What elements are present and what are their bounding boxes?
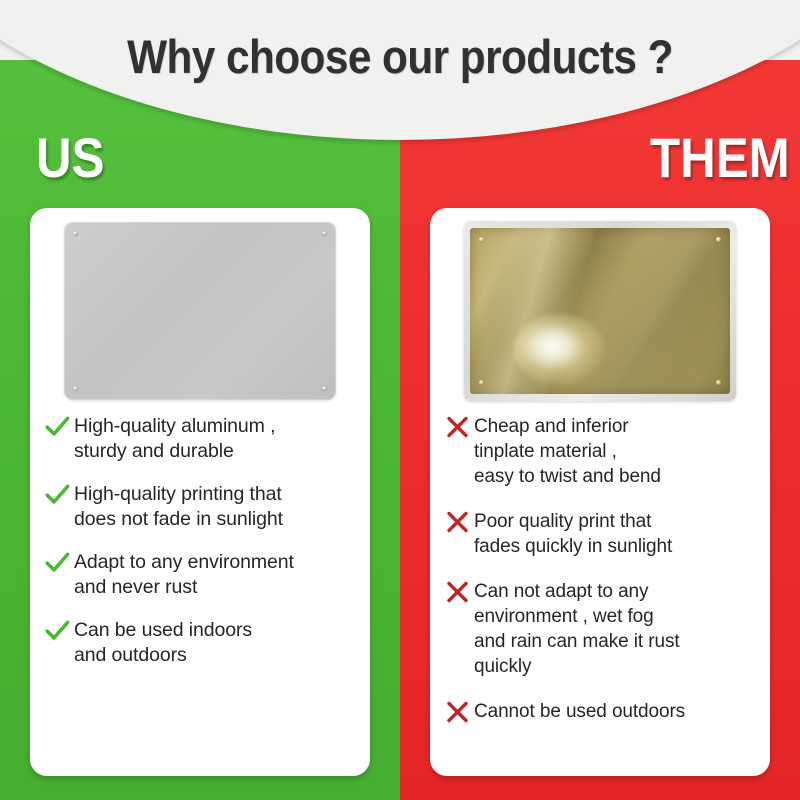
list-item: High-quality aluminum , sturdy and durab… xyxy=(40,414,356,464)
card-them: Cheap and inferior tinplate material , e… xyxy=(430,208,770,776)
list-item: Cannot be used outdoors xyxy=(440,699,756,724)
check-icon xyxy=(40,550,74,574)
cross-icon xyxy=(440,699,474,723)
screw-hole-icon xyxy=(322,231,327,236)
list-item: Adapt to any environment and never rust xyxy=(40,550,356,600)
screw-hole-icon xyxy=(73,231,78,236)
feature-list-them: Cheap and inferior tinplate material , e… xyxy=(430,414,770,744)
list-item: Can be used indoors and outdoors xyxy=(40,618,356,668)
heading-them: THEM xyxy=(650,128,790,188)
list-item-label: Can not adapt to any environment , wet f… xyxy=(474,579,756,679)
list-item-label: High-quality aluminum , sturdy and durab… xyxy=(74,414,356,464)
screw-hole-icon xyxy=(479,380,484,385)
tinplate-frame xyxy=(464,221,736,401)
list-item-label: Poor quality print that fades quickly in… xyxy=(474,509,756,559)
screw-hole-icon xyxy=(716,380,721,385)
cross-icon xyxy=(440,509,474,533)
list-item: Poor quality print that fades quickly in… xyxy=(440,509,756,559)
cross-icon xyxy=(440,414,474,438)
heading-us: US xyxy=(36,128,104,188)
product-image-tinplate xyxy=(430,208,770,414)
list-item-label: Adapt to any environment and never rust xyxy=(74,550,356,600)
gold-plate-icon xyxy=(470,228,730,394)
list-item-label: High-quality printing that does not fade… xyxy=(74,482,356,532)
page-title: Why choose our products ? xyxy=(40,30,760,84)
feature-list-us: High-quality aluminum , sturdy and durab… xyxy=(30,414,370,686)
check-icon xyxy=(40,618,74,642)
list-item-label: Can be used indoors and outdoors xyxy=(74,618,356,668)
card-us: High-quality aluminum , sturdy and durab… xyxy=(30,208,370,776)
check-icon xyxy=(40,482,74,506)
check-icon xyxy=(40,414,74,438)
gold-specular-hotspot xyxy=(514,314,606,386)
product-image-aluminum xyxy=(30,208,370,414)
cross-icon xyxy=(440,579,474,603)
list-item: High-quality printing that does not fade… xyxy=(40,482,356,532)
aluminum-plate-icon xyxy=(64,222,336,400)
screw-hole-icon xyxy=(716,237,721,242)
comparison-poster: Why choose our products ? US THEM Hi xyxy=(0,0,800,800)
screw-hole-icon xyxy=(479,237,484,242)
list-item-label: Cheap and inferior tinplate material , e… xyxy=(474,414,756,489)
screw-hole-icon xyxy=(73,386,78,391)
screw-hole-icon xyxy=(322,386,327,391)
list-item: Cheap and inferior tinplate material , e… xyxy=(440,414,756,489)
list-item-label: Cannot be used outdoors xyxy=(474,699,756,724)
list-item: Can not adapt to any environment , wet f… xyxy=(440,579,756,679)
